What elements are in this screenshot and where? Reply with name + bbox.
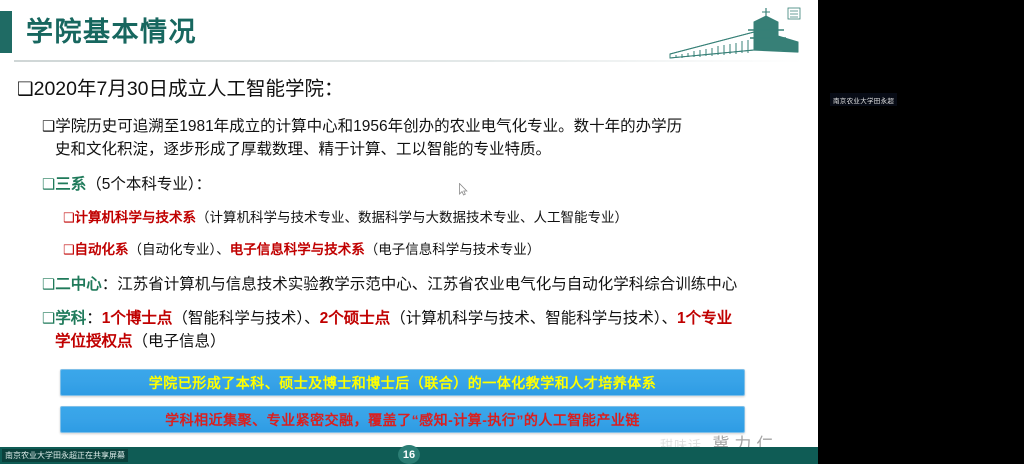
bullet-history-line1: 学院历史可追溯至1981年成立的计算中心和1956年创办的农业电气化专业。数十年… xyxy=(55,118,682,135)
screen-share-view: 学院基本情况 ❑2020年7月30日成立人工智能学院： ❑学院历史可追溯至198… xyxy=(0,0,1024,464)
phd-fields: （智能科学与技术）、 xyxy=(172,310,319,327)
bullet-square-icon: ❑ xyxy=(42,118,55,135)
bullet-disciplines-line2: 学位授权点（电子信息） xyxy=(55,330,818,353)
signature-main: 冀力仁 xyxy=(712,435,778,447)
bullet-automation-ee: ❑自动化系（自动化专业）、电子信息科学与技术系（电子信息科学与技术专业） xyxy=(63,239,818,262)
disciplines-label: 学科 xyxy=(55,310,86,327)
bullet-founding: ❑2020年7月30日成立人工智能学院： xyxy=(17,76,818,103)
bullet-history: ❑学院历史可追溯至1981年成立的计算中心和1956年创办的农业电气化专业。数十… xyxy=(42,115,818,138)
handwritten-signature: 甜味话 冀力仁 xyxy=(660,430,778,447)
masters-fields: （计算机科学与技术、智能科学与技术）、 xyxy=(390,310,677,327)
bullet-founding-text: 2020年7月30日成立人工智能学院： xyxy=(34,78,344,100)
ee-department-label: 电子信息科学与技术系 xyxy=(230,242,365,257)
presentation-slide: 学院基本情况 ❑2020年7月30日成立人工智能学院： ❑学院历史可追溯至198… xyxy=(0,0,818,447)
highlight-box-industry-chain: 学科相近集聚、专业紧密交融，覆盖了“感知-计算-执行”的人工智能产业链 xyxy=(60,406,745,433)
cs-department-majors: （计算机科学与技术专业、数据科学与大数据技术专业、人工智能专业） xyxy=(196,210,628,225)
page-title: 学院基本情况 xyxy=(26,11,197,53)
highlight-box-2-text: 学科相近集聚、专业紧密交融，覆盖了“感知-计算-执行”的人工智能产业链 xyxy=(165,410,640,430)
professional-degree-label: 学位授权点 xyxy=(55,333,133,350)
professional-degree-count: 1个专业 xyxy=(677,310,732,327)
automation-department-label: 自动化系 xyxy=(75,242,129,257)
bullet-two-centers: ❑二中心：江苏省计算机与信息技术实验教学示范中心、江苏省农业电气化与自动化学科综… xyxy=(42,273,818,296)
highlight-box-education-system: 学院已形成了本科、硕士及博士和博士后（联合）的一体化教学和人才培养体系 xyxy=(60,369,745,396)
slide-body: ❑2020年7月30日成立人工智能学院： ❑学院历史可追溯至1981年成立的计算… xyxy=(0,72,818,353)
pagoda-illustration xyxy=(662,2,802,68)
title-divider xyxy=(14,60,804,62)
bullet-square-icon: ❑ xyxy=(42,176,55,193)
bullet-square-icon: ❑ xyxy=(17,79,34,100)
disciplines-colon: ： xyxy=(86,310,102,327)
highlight-box-1-text: 学院已形成了本科、硕士及博士和博士后（联合）的一体化教学和人才培养体系 xyxy=(149,373,657,393)
bullet-history-line2-row: 史和文化积淀，逐步形成了厚载数理、精于计算、工以智能的专业特质。 xyxy=(55,138,818,161)
professional-degree-fields: （电子信息） xyxy=(133,333,226,350)
three-departments-rest: （5个本科专业）： xyxy=(86,176,211,193)
bullet-square-icon: ❑ xyxy=(63,243,75,258)
bullet-history-line2: 史和文化积淀，逐步形成了厚载数理、精于计算、工以智能的专业特质。 xyxy=(55,141,551,158)
automation-department-majors: （自动化专业）、 xyxy=(129,242,230,257)
three-departments-label: 三系 xyxy=(55,176,86,193)
bullet-cs-department: ❑计算机科学与技术系（计算机科学与技术专业、数据科学与大数据技术专业、人工智能专… xyxy=(63,207,818,230)
two-centers-rest: ：江苏省计算机与信息技术实验教学示范中心、江苏省农业电气化与自动化学科综合训练中… xyxy=(102,276,738,293)
bullet-square-icon: ❑ xyxy=(42,310,55,327)
screen-share-status-text: 南京农业大学田永超正在共享屏幕 xyxy=(2,449,128,462)
two-centers-label: 二中心 xyxy=(55,276,102,293)
slide-title-row: 学院基本情况 xyxy=(0,10,197,54)
signature-faint: 甜味话 xyxy=(660,439,702,447)
masters-count: 2个硕士点 xyxy=(320,310,391,327)
cs-department-label: 计算机科学与技术系 xyxy=(75,210,197,225)
phd-count: 1个博士点 xyxy=(102,310,173,327)
bullet-disciplines: ❑学科：1个博士点（智能科学与技术）、2个硕士点（计算机科学与技术、智能科学与技… xyxy=(42,307,818,330)
ee-department-majors: （电子信息科学与技术专业） xyxy=(365,242,541,257)
right-black-area xyxy=(818,0,1024,464)
bullet-three-departments: ❑三系（5个本科专业）： xyxy=(42,173,818,196)
title-accent-bar xyxy=(0,11,12,53)
slide-page-number: 16 xyxy=(398,445,420,464)
mouse-cursor xyxy=(459,183,468,196)
participant-name-badge: 南京农业大学田永超 xyxy=(830,93,897,106)
bullet-square-icon: ❑ xyxy=(63,211,75,226)
bullet-square-icon: ❑ xyxy=(42,276,55,293)
